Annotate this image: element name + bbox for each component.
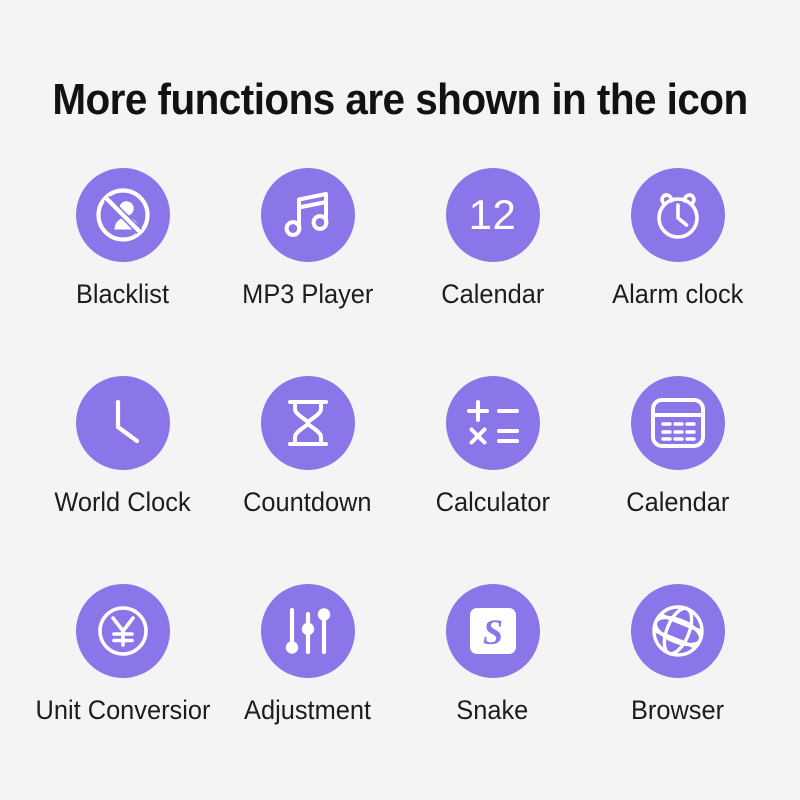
calendar-day-number: 12	[469, 193, 517, 237]
grid-item-countdown[interactable]: Countdown	[215, 376, 400, 517]
grid-item-blacklist[interactable]: Blacklist	[30, 168, 215, 309]
grid-item-label: Adjustment	[244, 695, 371, 725]
icon-grid-row: World Clock Countdown	[30, 376, 770, 584]
grid-item-mp3-player[interactable]: MP3 Player	[215, 168, 400, 309]
icon-grid-row: Unit Conversior Adjustment	[30, 584, 770, 792]
page-title: More functions are shown in the icon	[32, 74, 768, 126]
grid-item-browser[interactable]: Browser	[585, 584, 770, 725]
grid-item-calendar-grid[interactable]: Calendar	[585, 376, 770, 517]
grid-item-label: Browser	[631, 695, 724, 725]
svg-text:S: S	[482, 612, 502, 652]
grid-item-label: World Clock	[54, 487, 190, 517]
grid-item-label: Calendar	[441, 279, 544, 309]
grid-item-unit-conversion[interactable]: Unit Conversior	[30, 584, 215, 725]
grid-item-label: MP3 Player	[242, 279, 373, 309]
icon-grid: Blacklist MP3 Player 12 Calendar	[30, 168, 770, 792]
calendar-number-icon[interactable]: 12	[446, 168, 540, 262]
grid-item-label: Snake	[457, 695, 529, 725]
yen-circle-icon[interactable]	[76, 584, 170, 678]
grid-item-calendar-number[interactable]: 12 Calendar	[400, 168, 585, 309]
grid-item-label: Calendar	[626, 487, 729, 517]
music-note-icon[interactable]	[261, 168, 355, 262]
grid-item-label: Alarm clock	[612, 279, 743, 309]
sliders-icon[interactable]	[261, 584, 355, 678]
icon-grid-row: Blacklist MP3 Player 12 Calendar	[30, 168, 770, 376]
blacklist-person-prohibited-icon[interactable]	[76, 168, 170, 262]
calculator-operators-icon[interactable]	[446, 376, 540, 470]
grid-item-label: Calculator	[435, 487, 549, 517]
grid-item-alarm-clock[interactable]: Alarm clock	[585, 168, 770, 309]
hourglass-icon[interactable]	[261, 376, 355, 470]
app-function-icon-grid-page: More functions are shown in the icon	[0, 0, 800, 800]
grid-item-label: Blacklist	[76, 279, 169, 309]
globe-icon[interactable]	[631, 584, 725, 678]
grid-item-snake[interactable]: S Snake	[400, 584, 585, 725]
grid-item-label: Countdown	[243, 487, 371, 517]
grid-item-label: Unit Conversior	[30, 695, 214, 725]
grid-item-world-clock[interactable]: World Clock	[30, 376, 215, 517]
clock-hands-icon[interactable]	[76, 376, 170, 470]
calendar-grid-icon[interactable]	[631, 376, 725, 470]
alarm-clock-icon[interactable]	[631, 168, 725, 262]
grid-item-adjustment[interactable]: Adjustment	[215, 584, 400, 725]
snake-s-icon[interactable]: S	[446, 584, 540, 678]
grid-item-calculator[interactable]: Calculator	[400, 376, 585, 517]
